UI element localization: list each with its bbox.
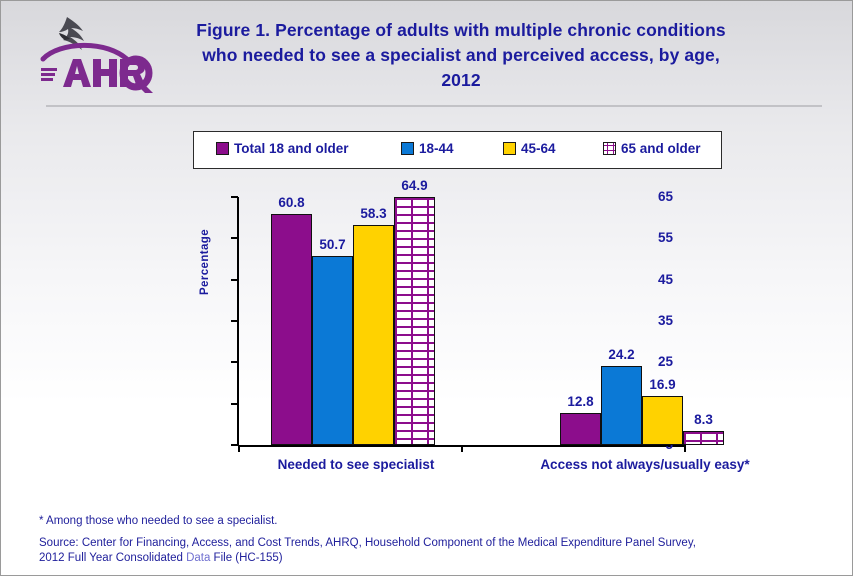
source-line-1: Source: Center for Financing, Access, an… <box>39 537 696 549</box>
y-axis-tick <box>231 320 238 322</box>
y-axis-tick-label: 45 <box>633 273 673 287</box>
bar[interactable] <box>353 225 394 445</box>
bar-value-label: 12.8 <box>554 395 607 409</box>
bar-value-label: 50.7 <box>306 238 359 252</box>
figure-page: Figure 1. Percentage of adults with mult… <box>0 0 853 576</box>
bar-value-label: 60.8 <box>265 196 318 210</box>
source-line-2-suffix: File (HC-155) <box>210 552 282 564</box>
x-axis-category-label: Access not always/usually easy* <box>535 456 755 474</box>
y-axis-tick <box>231 403 238 405</box>
source-line-2-prefix: 2012 Full Year Consolidated <box>39 552 186 564</box>
y-axis-tick <box>231 279 238 281</box>
bar[interactable] <box>683 431 724 445</box>
bar[interactable] <box>394 197 435 445</box>
y-axis-tick <box>231 444 238 446</box>
y-axis-tick-label: 35 <box>633 314 673 328</box>
bar-value-label: 58.3 <box>347 207 400 221</box>
x-axis-tick <box>684 445 686 452</box>
bar-value-label: 24.2 <box>595 348 648 362</box>
x-axis-tick <box>238 445 240 452</box>
footnote-text: * Among those who needed to see a specia… <box>39 514 277 528</box>
source-data-link[interactable]: Data <box>186 552 210 564</box>
y-axis-label: Percentage <box>199 197 211 327</box>
x-axis-tick <box>461 445 463 452</box>
y-axis-tick <box>231 361 238 363</box>
source-text: Source: Center for Financing, Access, an… <box>39 536 799 566</box>
x-axis-category-label: Needed to see specialist <box>246 456 466 474</box>
bar[interactable] <box>560 413 601 445</box>
bar-value-label: 64.9 <box>388 179 441 193</box>
bar-value-label: 16.9 <box>636 378 689 392</box>
plot-area: 655545352515560.850.758.364.912.824.216.… <box>238 197 684 445</box>
bar-value-label: 8.3 <box>677 413 730 427</box>
bar[interactable] <box>312 256 353 445</box>
y-axis-tick-label: 65 <box>633 190 673 204</box>
y-axis-tick <box>231 196 238 198</box>
y-axis-tick <box>231 237 238 239</box>
bar-chart: Percentage 655545352515560.850.758.364.9… <box>1 1 853 576</box>
y-axis-tick-label: 55 <box>633 231 673 245</box>
